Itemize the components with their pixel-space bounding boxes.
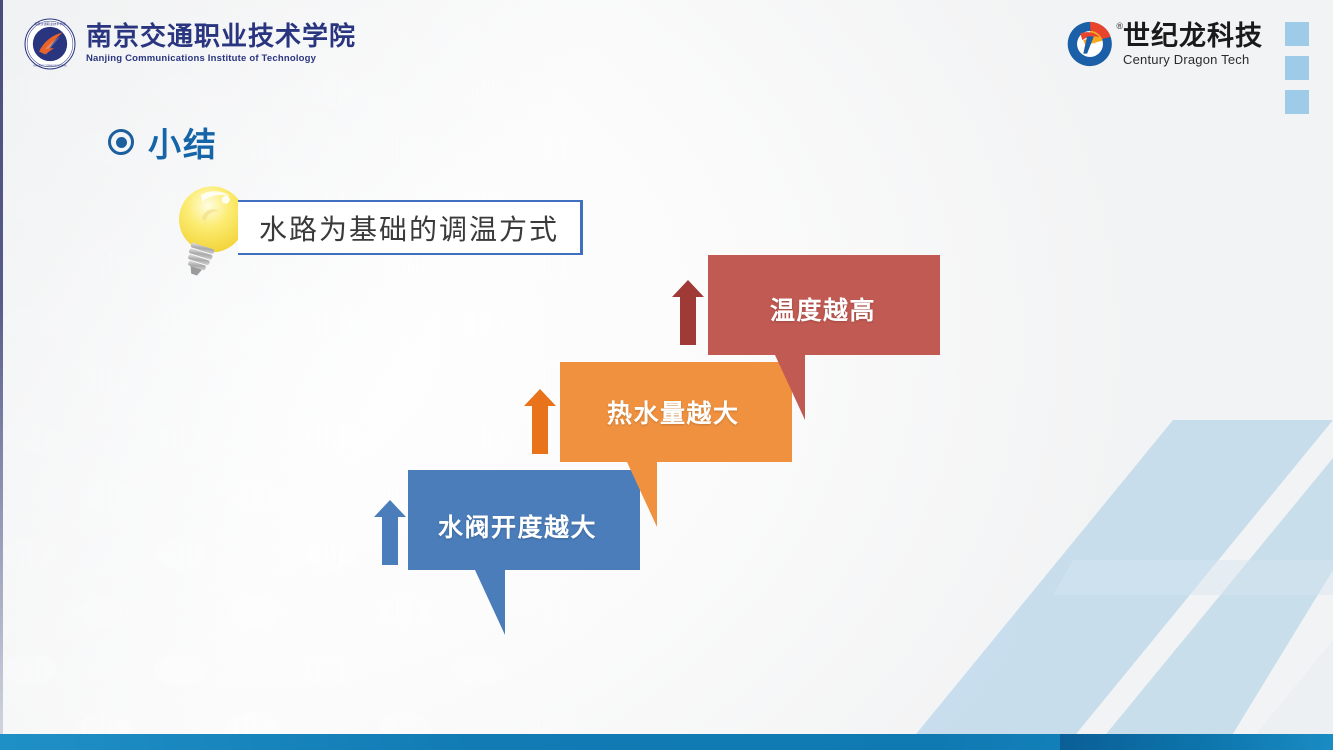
callout-step-3[interactable]: 温度越高 <box>660 255 950 435</box>
svg-text:NANJING COMMUNICATIONS: NANJING COMMUNICATIONS <box>33 64 66 67</box>
bottom-accent-bar-dark <box>1060 734 1333 750</box>
corporate-logo: ® 世纪龙科技 Century Dragon Tech <box>1066 20 1263 68</box>
corporate-name-en: Century Dragon Tech <box>1123 53 1263 66</box>
caption-text: 水路为基础的调温方式 <box>259 208 559 248</box>
corporate-name-cn: 世纪龙科技 <box>1123 23 1263 50</box>
university-name-en: Nanjing Communications Institute of Tech… <box>86 54 356 64</box>
corner-square-decoration <box>1285 22 1309 114</box>
svg-text:南京交通职业技术学院: 南京交通职业技术学院 <box>34 21 65 26</box>
decor-square <box>1285 90 1309 114</box>
decor-square <box>1285 22 1309 46</box>
slide-canvas: 南京交通职业技术学院 NANJING COMMUNICATIONS 南京交通职业… <box>0 0 1333 750</box>
page-title-label: 小结 <box>148 118 218 166</box>
arrow-up-icon <box>524 389 556 454</box>
callout-step-3-label: 温度越高 <box>770 291 876 327</box>
arrow-up-icon <box>374 500 406 565</box>
university-logo: 南京交通职业技术学院 NANJING COMMUNICATIONS 南京交通职业… <box>24 18 356 70</box>
left-edge-accent-line <box>0 0 3 750</box>
registered-trademark-icon: ® <box>1116 21 1123 31</box>
bullseye-icon <box>108 129 134 155</box>
decor-square <box>1285 56 1309 80</box>
corner-ribbon-decoration <box>773 420 1333 750</box>
arrow-up-icon <box>672 280 704 345</box>
university-name-cn: 南京交通职业技术学院 <box>86 24 356 50</box>
page-title: 小结 <box>108 118 218 166</box>
university-seal-icon: 南京交通职业技术学院 NANJING COMMUNICATIONS <box>24 18 76 70</box>
century-dragon-logo-icon: ® <box>1066 20 1114 68</box>
caption-box: 水路为基础的调温方式 <box>238 200 583 255</box>
